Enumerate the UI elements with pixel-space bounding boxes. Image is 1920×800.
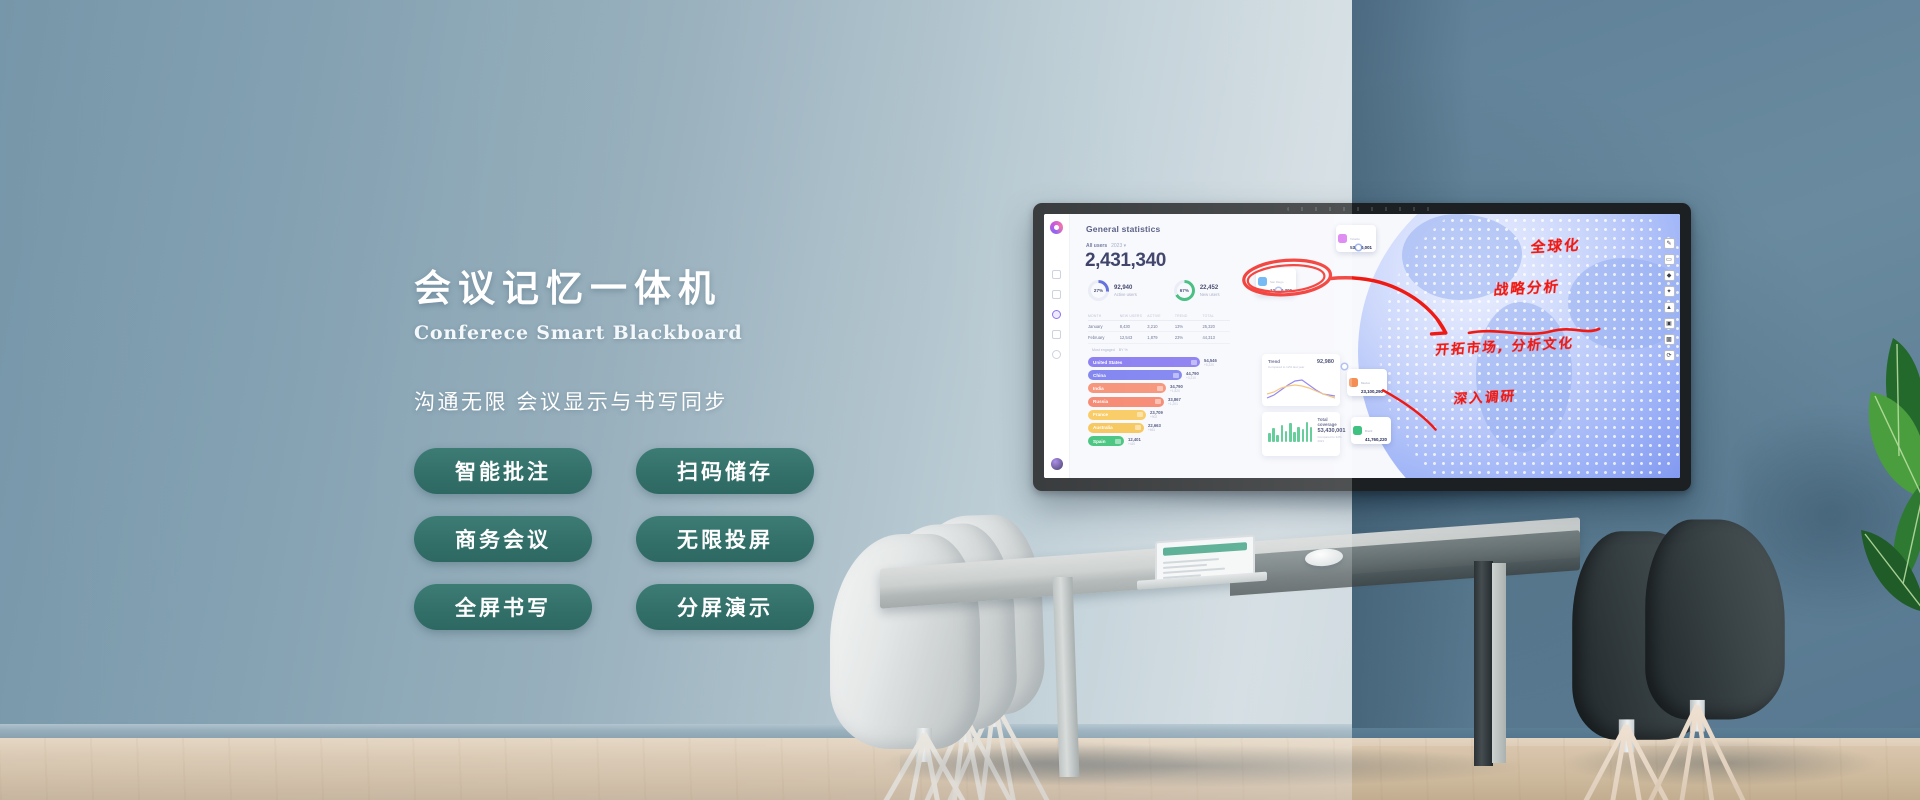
country-delta: +3,210 (1186, 376, 1199, 380)
table-row: February 12,543 1,879 23% 44,313 (1088, 332, 1230, 343)
dashboard-main: General statistics All users2023 ▾ 2,431… (1070, 214, 1680, 478)
map-pin-brazil[interactable]: Brazil41,760,220 (1351, 417, 1391, 444)
pin-swatch-icon (1338, 234, 1347, 243)
pin-label: Mexico (1361, 381, 1370, 385)
most-engaged-title: Most engagedBY % (1088, 347, 1128, 353)
cell-month: February (1088, 335, 1120, 340)
trend-line-chart (1266, 378, 1336, 402)
table-row: January 8,430 3,210 13% 25,320 (1088, 321, 1230, 332)
coverage-bar-chart (1268, 420, 1312, 442)
pin-swatch-icon (1349, 378, 1358, 387)
kpi-value: 22,452 (1200, 285, 1220, 291)
map-dot-toronto (1356, 245, 1361, 250)
grid-icon[interactable] (1052, 270, 1061, 279)
country-name: China (1093, 373, 1106, 378)
country-bar-chart: United States 54,546+5,220 China 44,790+… (1088, 357, 1240, 446)
undo-icon[interactable]: ▲ (1664, 302, 1675, 313)
all-users-label: All users2023 ▾ (1086, 243, 1126, 249)
page-title: General statistics (1086, 224, 1160, 234)
pin-label: Toronto (1350, 237, 1360, 241)
cell-total: 25,320 (1202, 324, 1230, 329)
kpi-new-users: 67% 22,452 New users (1174, 280, 1220, 301)
kpi-label: Active users (1114, 292, 1137, 297)
list-item[interactable]: India 34,790+1,820 (1088, 383, 1240, 393)
monthly-stats-table: MONTH NEW USERS ACTIVE TREND TOTAL Janua… (1088, 311, 1230, 344)
map-pin-mexico[interactable]: Mexico23,100,290 (1347, 369, 1387, 396)
country-delta: +902 (1150, 415, 1163, 419)
table-header-row: MONTH NEW USERS ACTIVE TREND TOTAL (1088, 311, 1230, 321)
plant-leaves-icon (1775, 330, 1920, 630)
eraser-icon[interactable]: ▭ (1664, 254, 1675, 265)
pin-label: Brazil (1365, 429, 1372, 433)
pin-label: San Diego (1270, 280, 1284, 284)
all-users-filter[interactable]: 2023 ▾ (1111, 243, 1126, 249)
feature-button-smart-annotation[interactable]: 智能批注 (414, 448, 592, 494)
col-trend: TREND (1175, 314, 1203, 318)
cell-total: 44,313 (1202, 335, 1230, 340)
hero-subtitle: Conferece Smart Blackboard (414, 322, 742, 344)
cell-trend: 13% (1175, 324, 1203, 329)
donut-percent: 67% (1180, 288, 1189, 293)
list-item[interactable]: Spain 12,401+410 (1088, 436, 1240, 446)
card-icon[interactable] (1052, 330, 1061, 339)
flag-icon (1155, 399, 1161, 404)
feature-button-fullscreen-write[interactable]: 全屏书写 (414, 584, 592, 630)
country-delta: +1,201 (1168, 402, 1181, 406)
scene: General statistics All users2023 ▾ 2,431… (0, 0, 1920, 800)
col-active: ACTIVE (1147, 314, 1175, 318)
list-item[interactable]: China 44,790+3,210 (1088, 370, 1240, 380)
world-globe-graphic (1358, 214, 1680, 478)
hero-tagline: 沟通无限 会议显示与书写同步 (414, 386, 742, 416)
stamp-icon[interactable]: ✦ (1664, 286, 1675, 297)
trend-card[interactable]: Trend Compared to 12% last year 92,980 (1262, 354, 1340, 406)
country-value: 54,546 (1204, 358, 1217, 363)
flag-icon (1137, 412, 1143, 417)
cell-new: 12,543 (1120, 335, 1148, 340)
list-item[interactable]: France 23,709+902 (1088, 410, 1240, 420)
list-item[interactable]: Australia 22,663+661 (1088, 423, 1240, 433)
card-subtitle: Compared to 32% 2021 (1317, 435, 1345, 443)
dashboard-sidebar[interactable] (1044, 214, 1070, 478)
col-total: TOTAL (1202, 314, 1230, 318)
board-drop-shadow (1045, 488, 1685, 514)
share-icon[interactable]: ⟳ (1664, 350, 1675, 361)
feature-button-split-present[interactable]: 分屏演示 (636, 584, 814, 630)
save-icon[interactable]: ▣ (1664, 318, 1675, 329)
country-delta: +5,220 (1204, 363, 1217, 367)
plant (1775, 330, 1920, 630)
page-title: 会议记忆一体机 (414, 258, 742, 312)
dashboard-nav[interactable] (1052, 270, 1061, 359)
all-users-text: All users (1086, 243, 1107, 249)
smart-blackboard-display[interactable]: General statistics All users2023 ▾ 2,431… (1033, 203, 1691, 491)
tablet-device[interactable] (1155, 535, 1255, 584)
card-subtitle: Compared to 12% last year (1268, 365, 1334, 369)
cell-active: 1,879 (1147, 335, 1175, 340)
donut-percent: 27% (1094, 288, 1103, 293)
country-delta: +1,820 (1170, 389, 1183, 393)
map-dot-san-diego (1276, 288, 1281, 293)
flag-icon (1157, 386, 1163, 391)
qr-icon[interactable]: ▩ (1664, 334, 1675, 345)
display-screen[interactable]: General statistics All users2023 ▾ 2,431… (1044, 214, 1680, 478)
country-delta: +410 (1128, 442, 1141, 446)
chair-right-2 (1645, 520, 1785, 720)
card-title: Total coverage (1317, 417, 1345, 427)
globe-icon[interactable] (1052, 310, 1061, 319)
cell-active: 3,210 (1147, 324, 1175, 329)
cell-trend: 23% (1175, 335, 1203, 340)
settings-icon[interactable] (1052, 350, 1061, 359)
engaged-label: Most engaged (1092, 348, 1115, 352)
country-value: 44,790 (1186, 371, 1199, 376)
feature-button-qr-storage[interactable]: 扫码储存 (636, 448, 814, 494)
flag-icon (1173, 373, 1179, 378)
col-new: NEW USERS (1120, 314, 1148, 318)
kpi-label: New users (1200, 292, 1220, 297)
cell-new: 8,430 (1120, 324, 1148, 329)
pen-icon[interactable]: ✎ (1664, 238, 1675, 249)
flag-icon (1115, 439, 1121, 444)
kpi-value: 92,940 (1114, 285, 1137, 291)
coverage-card[interactable]: Total coverage 53,430,001 Compared to 32… (1262, 412, 1340, 456)
total-users-value: 2,431,340 (1085, 250, 1166, 272)
country-name: Australia (1093, 425, 1113, 430)
card-value: 53,430,001 (1317, 428, 1345, 434)
donut-chart-new: 67% (1174, 280, 1195, 301)
country-name: France (1093, 412, 1108, 417)
shape-icon[interactable]: ◆ (1664, 270, 1675, 281)
app-logo-icon (1050, 221, 1063, 234)
avatar[interactable] (1051, 458, 1063, 470)
chart-icon[interactable] (1052, 290, 1061, 299)
country-name: India (1093, 386, 1104, 391)
card-value: 92,980 (1317, 359, 1334, 365)
list-item[interactable]: Russia 33,867+1,201 (1088, 397, 1240, 407)
flag-icon (1135, 425, 1141, 430)
feature-buttons[interactable]: 智能批注 扫码储存 商务会议 无限投屏 全屏书写 分屏演示 (414, 448, 814, 630)
donut-chart-active: 27% (1088, 280, 1109, 301)
pin-value: 41,760,220 (1365, 437, 1387, 442)
country-name: United States (1093, 360, 1122, 365)
country-value: 12,401 (1128, 437, 1141, 442)
board-toolbar[interactable]: ✎ ▭ ◆ ✦ ▲ ▣ ▩ ⟳ (1662, 238, 1676, 361)
col-month: MONTH (1088, 314, 1120, 318)
cell-month: January (1088, 324, 1120, 329)
pin-swatch-icon (1353, 426, 1362, 435)
list-item[interactable]: United States 54,546+5,220 (1088, 357, 1240, 367)
kpi-donuts: 27% 92,940 Active users 67% 22,452 (1088, 280, 1220, 301)
country-delta: +661 (1148, 428, 1161, 432)
engaged-filter[interactable]: BY % (1119, 348, 1128, 352)
feature-button-unlimited-cast[interactable]: 无限投屏 (636, 516, 814, 562)
kpi-active-users: 27% 92,940 Active users (1088, 280, 1137, 301)
feature-button-business-meeting[interactable]: 商务会议 (414, 516, 592, 562)
map-dot-mexico (1342, 364, 1347, 369)
country-name: Spain (1093, 439, 1106, 444)
flag-icon (1191, 360, 1197, 365)
hero-copy: 会议记忆一体机 Conferece Smart Blackboard 沟通无限 … (414, 258, 742, 416)
country-name: Russia (1093, 399, 1108, 404)
pin-swatch-icon (1258, 277, 1267, 286)
pin-value: 23,100,290 (1361, 389, 1383, 394)
